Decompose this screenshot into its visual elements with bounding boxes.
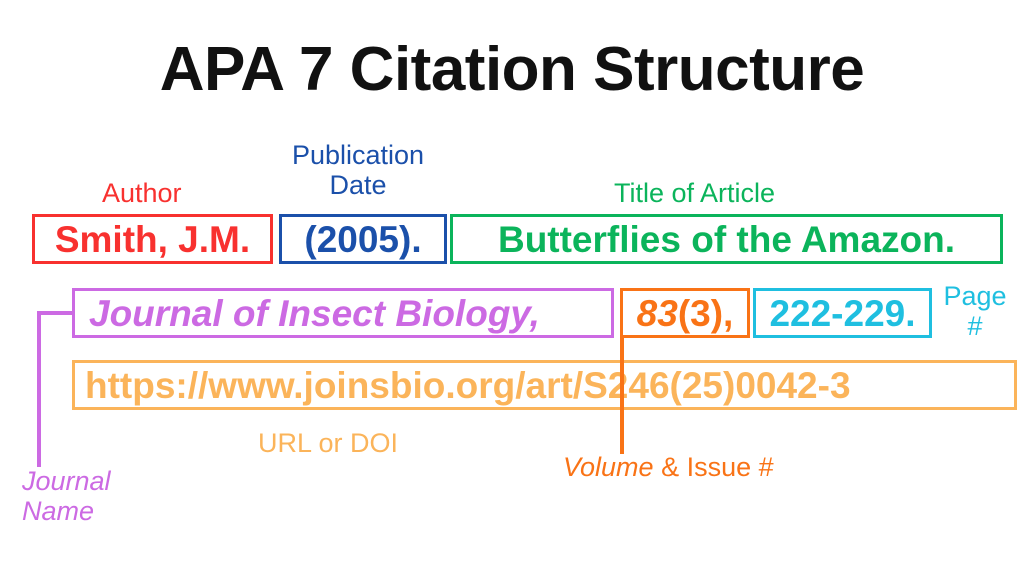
citation-chunk-volume-issue[interactable]: 83(3), xyxy=(620,288,750,338)
citation-chunk-journal-name[interactable]: Journal of Insect Biology, xyxy=(72,288,614,338)
leader-line-volume-vertical xyxy=(620,338,624,454)
label-page-number: Page # xyxy=(940,281,1010,341)
issue-number: (3), xyxy=(678,295,734,332)
volume-number: 83 xyxy=(637,295,678,332)
leader-line-journal-horizontal xyxy=(37,311,75,315)
label-journal-name: Journal Name xyxy=(22,466,162,526)
label-article-title: Title of Article xyxy=(614,178,775,208)
label-publication-date-line2: Date xyxy=(329,170,386,200)
citation-chunk-author[interactable]: Smith, J.M. xyxy=(32,214,273,264)
leader-line-journal-vertical xyxy=(37,311,41,467)
citation-chunk-pages[interactable]: 222-229. xyxy=(753,288,932,338)
label-issue-rest: & Issue # xyxy=(661,452,774,482)
label-journal-name-line2: Name xyxy=(22,496,94,526)
label-journal-name-line1: Journal xyxy=(22,466,111,496)
citation-diagram: APA 7 Citation Structure Author Publicat… xyxy=(0,0,1024,562)
label-page-number-line2: # xyxy=(967,311,982,341)
label-publication-date: Publication Date xyxy=(268,140,448,200)
label-volume-italic: Volume xyxy=(563,452,654,482)
label-url-doi: URL or DOI xyxy=(258,428,398,458)
page-title: APA 7 Citation Structure xyxy=(0,34,1024,105)
citation-chunk-url-doi[interactable]: https://www.joinsbio.org/art/S246(25)004… xyxy=(72,360,1017,410)
label-page-number-line1: Page xyxy=(943,281,1006,311)
label-publication-date-line1: Publication xyxy=(292,140,424,170)
label-volume-issue: Volume & Issue # xyxy=(563,452,774,482)
citation-chunk-article-title[interactable]: Butterflies of the Amazon. xyxy=(450,214,1003,264)
citation-chunk-publication-date[interactable]: (2005). xyxy=(279,214,447,264)
label-author: Author xyxy=(102,178,182,208)
